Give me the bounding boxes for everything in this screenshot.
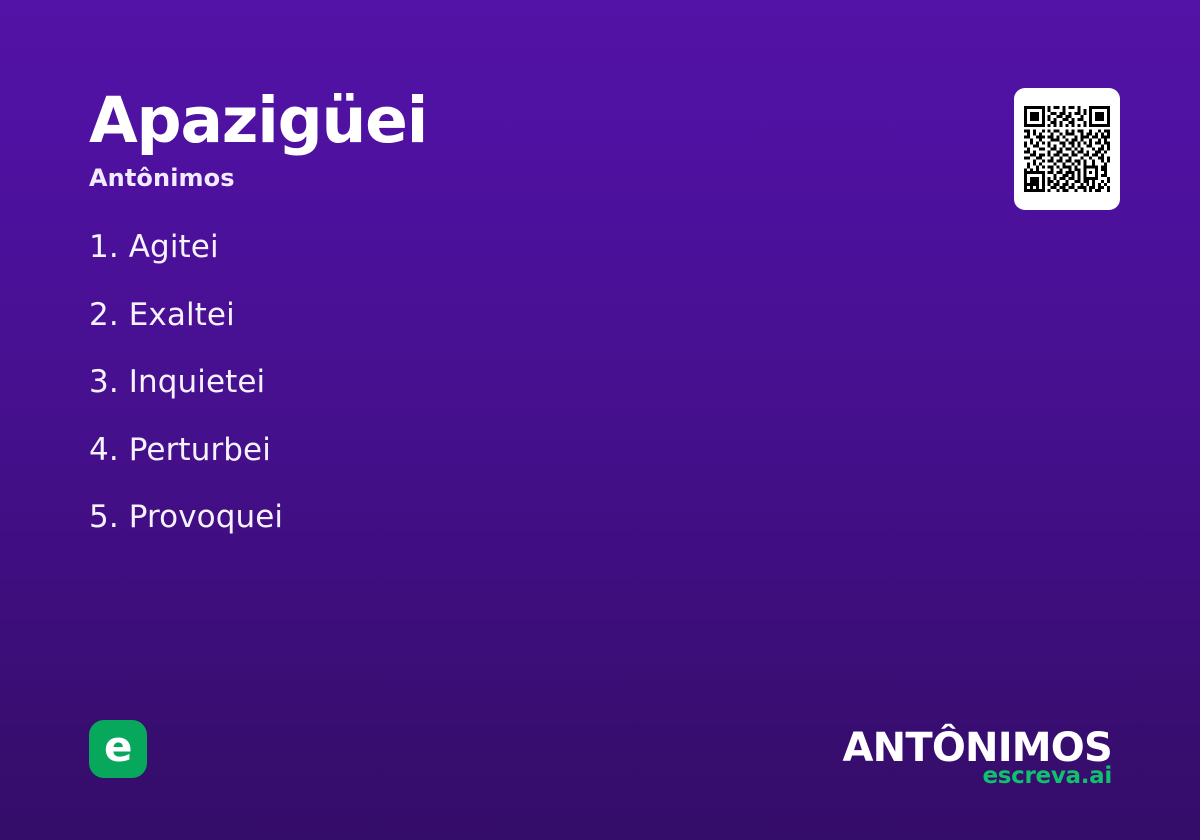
list-item: 4. Perturbei: [89, 435, 889, 466]
header: Apazigüei Antônimos: [89, 88, 949, 192]
qr-code-icon[interactable]: [1014, 88, 1120, 210]
list-item: 2. Exaltei: [89, 300, 889, 331]
list-item: 1. Agitei: [89, 232, 889, 263]
page-subtitle: Antônimos: [89, 164, 949, 192]
antonyms-list: 1. Agitei 2. Exaltei 3. Inquietei 4. Per…: [89, 232, 889, 570]
list-item: 3. Inquietei: [89, 367, 889, 398]
page-title: Apazigüei: [89, 88, 949, 154]
list-item: 5. Provoquei: [89, 502, 889, 533]
badge-letter: e: [104, 726, 132, 768]
brand-logo: ANTÔNIMOS escreva.ai: [843, 728, 1113, 788]
antonyms-card: Apazigüei Antônimos: [0, 0, 1200, 840]
brand-name: ANTÔNIMOS: [843, 728, 1113, 768]
escreva-badge-icon[interactable]: e: [89, 720, 147, 778]
